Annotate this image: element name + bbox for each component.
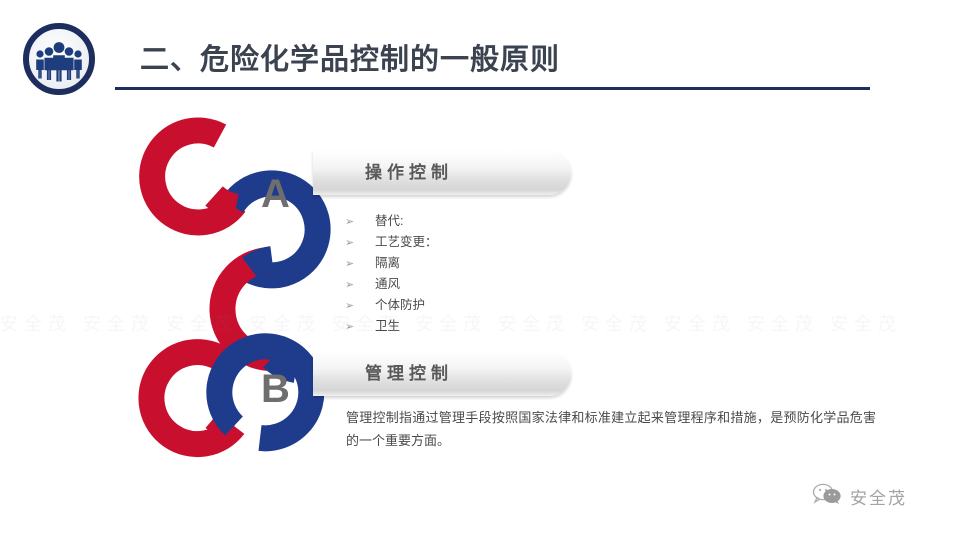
pill-management-control[interactable]: 管理控制 — [313, 352, 571, 396]
list-item-label: 个体防护 — [375, 294, 425, 313]
bullet-list-operation-control: ➢ 替代: ➢ 工艺变更： ➢ 隔离 ➢ 通风 ➢ 个体防护 ➢ 卫生 — [345, 210, 605, 336]
list-item-label: 卫生 — [375, 315, 400, 334]
list-item: ➢ 工艺变更： — [345, 231, 605, 252]
pill-label-b: 管理控制 — [365, 352, 453, 396]
pill-label-a: 操作控制 — [365, 151, 453, 195]
list-item-label: 隔离 — [375, 252, 400, 271]
list-item: ➢ 卫生 — [345, 315, 605, 336]
arrow-bullet-icon: ➢ — [345, 278, 375, 291]
arrow-bullet-icon: ➢ — [345, 215, 375, 228]
section-letter-b: B — [261, 367, 290, 412]
list-item: ➢ 隔离 — [345, 252, 605, 273]
wechat-icon — [812, 482, 842, 511]
page-title: 二、危险化学品控制的一般原则 — [140, 36, 560, 78]
pill-operation-control[interactable]: 操作控制 — [313, 151, 571, 195]
list-item-label: 工艺变更： — [375, 231, 438, 250]
arrow-bullet-icon: ➢ — [345, 236, 375, 249]
arrow-bullet-icon: ➢ — [345, 320, 375, 333]
section-letter-a: A — [261, 172, 290, 217]
footer-watermark-text: 安全茂 — [850, 484, 907, 509]
list-item-label: 通风 — [375, 273, 400, 292]
header-divider — [115, 87, 870, 90]
management-control-description: 管理控制指通过管理手段按照国家法律和标准建立起来管理程序和措施，是预防化学品危害… — [346, 406, 876, 452]
arrow-bullet-icon: ➢ — [345, 257, 375, 270]
list-item: ➢ 个体防护 — [345, 294, 605, 315]
list-item-label: 替代: — [375, 210, 403, 229]
footer-watermark: 安全茂 — [812, 482, 907, 511]
people-group-circle-icon — [21, 21, 97, 97]
s-chain-graphic — [110, 108, 340, 468]
list-item: ➢ 通风 — [345, 273, 605, 294]
list-item: ➢ 替代: — [345, 210, 605, 231]
arrow-bullet-icon: ➢ — [345, 299, 375, 312]
slide: 二、危险化学品控制的一般原则 — [0, 0, 960, 540]
